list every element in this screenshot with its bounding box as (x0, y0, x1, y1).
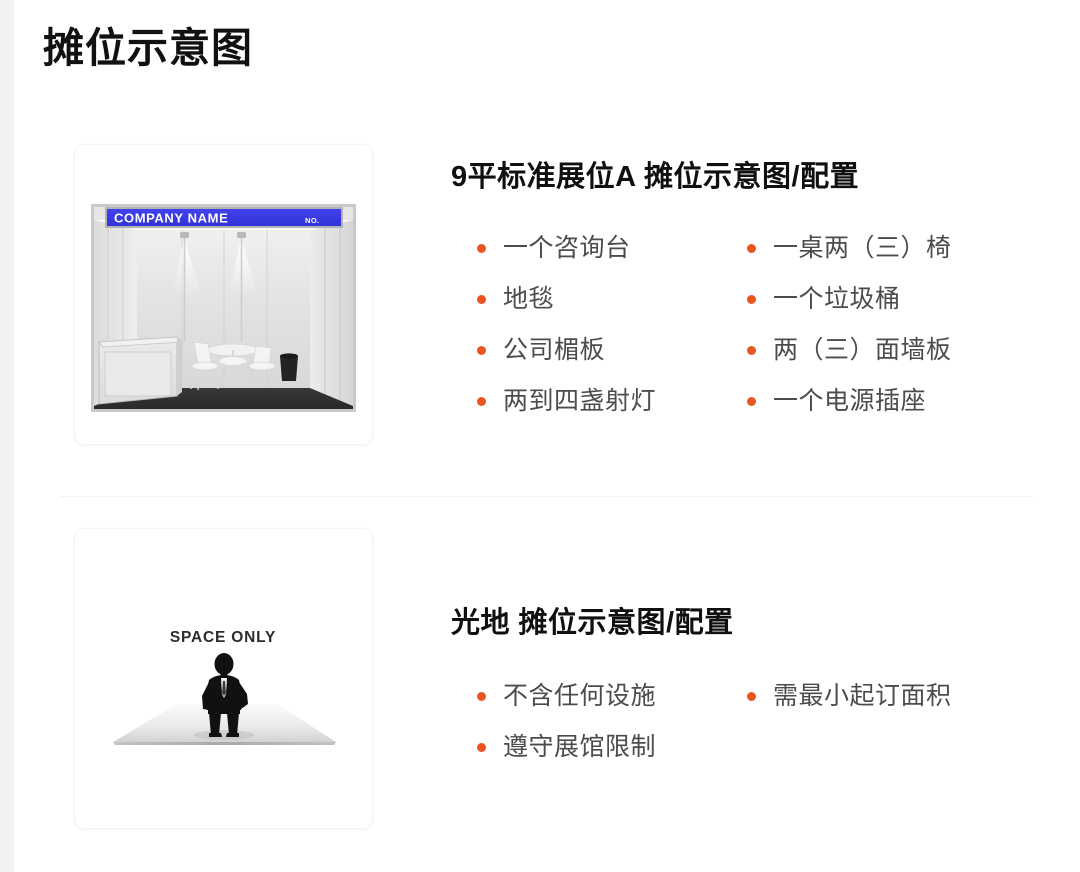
feature-label: 一个电源插座 (773, 386, 926, 417)
booth-image: COMPANY NAME NO. (75, 145, 372, 444)
feature-label: 不含任何设施 (503, 681, 656, 712)
booth-image-card[interactable]: COMPANY NAME NO. (74, 144, 373, 445)
feature-label: 一个垃圾桶 (773, 284, 901, 315)
bullet-dot-icon (477, 295, 486, 304)
standard-booth-text-column: 9平标准展位A 摊位示意图/配置 一个咨询台 一桌两（三）椅 地毯 一个垃圾桶 (373, 130, 1080, 427)
bullet-dot-icon (747, 244, 756, 253)
feature-item: 两到四盏射灯 (477, 376, 747, 427)
bullet-dot-icon (477, 692, 486, 701)
section-divider (60, 496, 1034, 497)
section-heading-standard-booth: 9平标准展位A 摊位示意图/配置 (451, 160, 1080, 195)
feature-item: 两（三）面墙板 (747, 325, 1017, 376)
feature-label: 公司楣板 (503, 335, 605, 366)
feature-label: 两到四盏射灯 (503, 386, 656, 417)
feature-item: 地毯 (477, 274, 747, 325)
feature-item: 需最小起订面积 (747, 671, 1017, 722)
space-only-image: SPACE ONLY (75, 529, 372, 828)
section-standard-booth: COMPANY NAME NO. 9平标准展位A 摊位示意图/配置 一个咨询台 … (14, 130, 1080, 460)
bullet-dot-icon (747, 346, 756, 355)
feature-label: 一桌两（三）椅 (773, 233, 952, 264)
feature-label: 遵守展馆限制 (503, 732, 656, 763)
booth-3d-illustration: COMPANY NAME NO. (81, 170, 366, 420)
feature-label: 需最小起订面积 (773, 681, 952, 712)
feature-item: 一个垃圾桶 (747, 274, 1017, 325)
feature-label: 一个咨询台 (503, 233, 631, 264)
page-title: 摊位示意图 (43, 23, 253, 74)
booth-diagram-page: 摊位示意图 (14, 0, 1080, 872)
space-only-illustration: SPACE ONLY (81, 554, 366, 804)
section-heading-raw-space: 光地 摊位示意图/配置 (451, 606, 1080, 641)
feature-label: 两（三）面墙板 (773, 335, 952, 366)
feature-item: 一桌两（三）椅 (747, 223, 1017, 274)
feature-item: 遵守展馆限制 (477, 722, 747, 773)
feature-item: 一个电源插座 (747, 376, 1017, 427)
booth-banner-company-name: COMPANY NAME (114, 210, 228, 225)
raw-space-feature-list: 不含任何设施 需最小起订面积 遵守展馆限制 (477, 671, 1080, 773)
feature-item: 不含任何设施 (477, 671, 747, 722)
booth-banner-number-label: NO. (305, 216, 320, 225)
space-only-caption: SPACE ONLY (170, 629, 276, 646)
bullet-dot-icon (747, 295, 756, 304)
bullet-dot-icon (477, 346, 486, 355)
bullet-dot-icon (747, 692, 756, 701)
feature-item: 一个咨询台 (477, 223, 747, 274)
bullet-dot-icon (747, 397, 756, 406)
bullet-dot-icon (477, 743, 486, 752)
bullet-dot-icon (477, 244, 486, 253)
bullet-dot-icon (477, 397, 486, 406)
raw-space-text-column: 光地 摊位示意图/配置 不含任何设施 需最小起订面积 遵守展馆限制 (373, 514, 1080, 773)
feature-item: 公司楣板 (477, 325, 747, 376)
section-raw-space: SPACE ONLY (14, 514, 1080, 844)
feature-label: 地毯 (503, 284, 554, 315)
space-only-image-card[interactable]: SPACE ONLY (74, 528, 373, 829)
standard-booth-feature-list: 一个咨询台 一桌两（三）椅 地毯 一个垃圾桶 公司楣板 (477, 223, 1080, 427)
